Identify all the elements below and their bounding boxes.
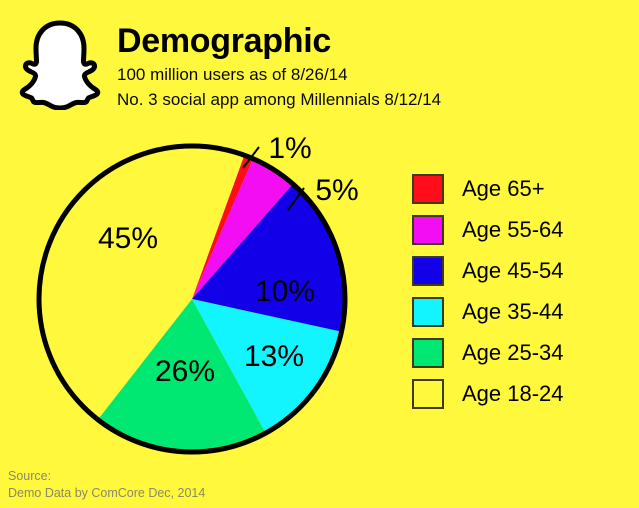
legend: Age 65+ Age 55-64 Age 45-54 Age 35-44 Ag…: [412, 168, 632, 414]
subtitle-users-count: 100 million users as of 8/26/14: [117, 63, 617, 86]
pie-label-13-percent: 13%: [244, 340, 304, 373]
legend-label-age-25-34: Age 25-34: [462, 342, 564, 364]
legend-label-age-45-54: Age 45-54: [462, 260, 564, 282]
pie-chart: 45% 26% 13% 10% 1% 5%: [0, 130, 400, 470]
pie-label-1-percent: 1%: [268, 132, 311, 165]
legend-label-age-55-64: Age 55-64: [462, 219, 564, 241]
infographic-page: Demographic 100 million users as of 8/26…: [0, 0, 639, 508]
title-block: Demographic 100 million users as of 8/26…: [117, 22, 617, 111]
header: Demographic 100 million users as of 8/26…: [0, 0, 639, 130]
page-title: Demographic: [117, 22, 617, 60]
legend-item-age-18-24[interactable]: Age 18-24: [412, 373, 632, 414]
snapchat-ghost-logo: [18, 18, 102, 110]
legend-swatch-age-18-24: [412, 379, 444, 409]
legend-item-age-65-plus[interactable]: Age 65+: [412, 168, 632, 209]
source-label: Source:: [8, 468, 408, 485]
legend-swatch-age-25-34: [412, 338, 444, 368]
pie-label-10-percent: 10%: [255, 275, 315, 308]
legend-swatch-age-55-64: [412, 215, 444, 245]
legend-swatch-age-45-54: [412, 256, 444, 286]
pie-label-26-percent: 26%: [155, 355, 215, 388]
source-footer: Source: Demo Data by ComCore Dec, 2014: [8, 468, 408, 502]
pie-label-45-percent: 45%: [98, 222, 158, 255]
subtitle-ranking: No. 3 social app among Millennials 8/12/…: [117, 88, 617, 111]
legend-item-age-55-64[interactable]: Age 55-64: [412, 209, 632, 250]
legend-item-age-35-44[interactable]: Age 35-44: [412, 291, 632, 332]
legend-item-age-45-54[interactable]: Age 45-54: [412, 250, 632, 291]
legend-swatch-age-35-44: [412, 297, 444, 327]
legend-label-age-35-44: Age 35-44: [462, 301, 564, 323]
legend-item-age-25-34[interactable]: Age 25-34: [412, 332, 632, 373]
legend-label-age-18-24: Age 18-24: [462, 383, 564, 405]
source-text: Demo Data by ComCore Dec, 2014: [8, 485, 408, 502]
legend-swatch-age-65-plus: [412, 174, 444, 204]
legend-label-age-65-plus: Age 65+: [462, 178, 545, 200]
pie-label-5-percent: 5%: [315, 174, 358, 207]
